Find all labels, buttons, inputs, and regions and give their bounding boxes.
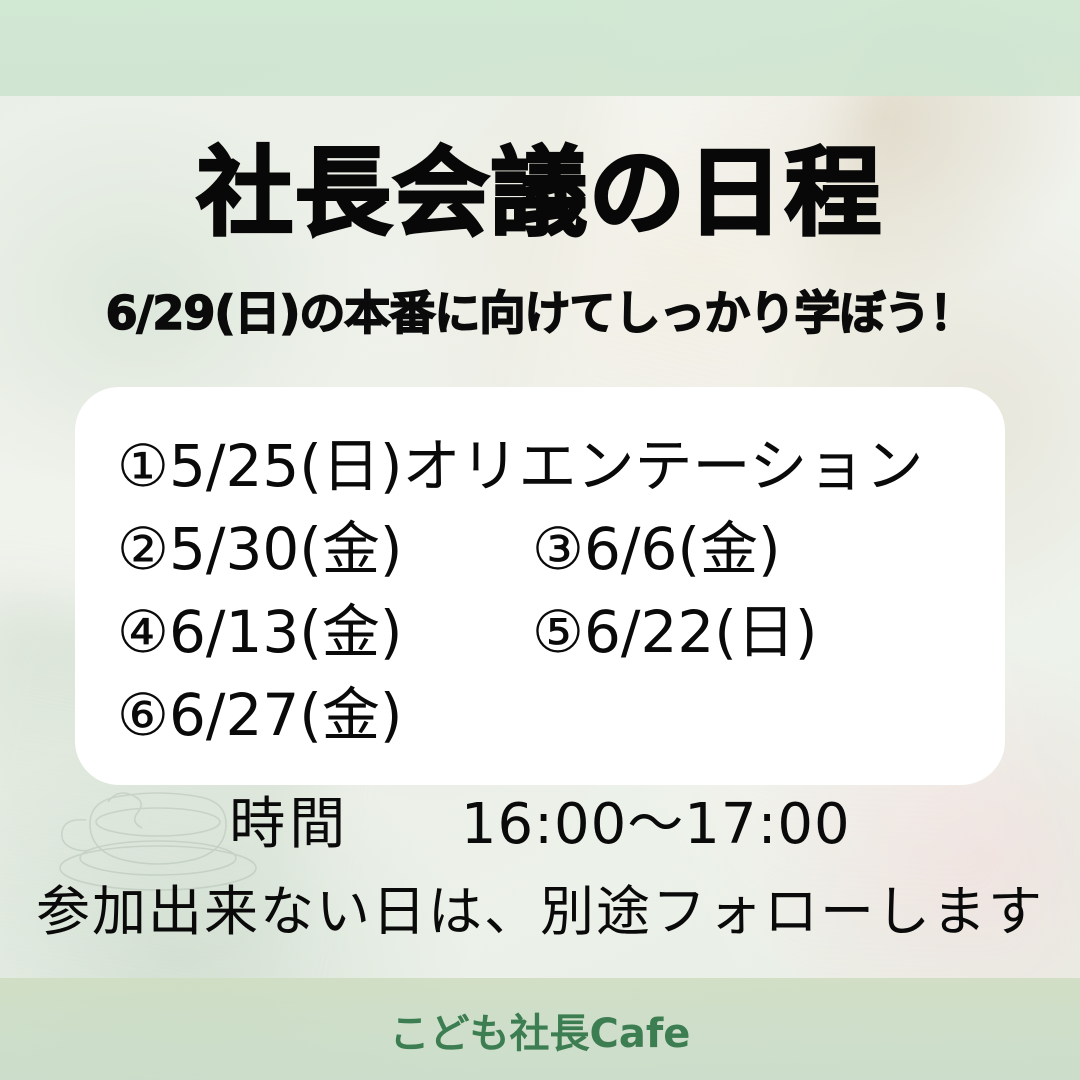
schedule-card: ①5/25(日)オリエンテーション ②5/30(金) ③6/6(金) ④6/13…: [75, 387, 1005, 785]
schedule-item-5: ⑤6/22(日): [532, 591, 818, 674]
schedule-item-6: ⑥6/27(金): [117, 674, 981, 757]
page-subtitle: 6/29(日)の本番に向けてしっかり学ぼう！: [0, 288, 1080, 339]
poster-root: 社長会議の日程 6/29(日)の本番に向けてしっかり学ぼう！ ①5/25(日)オ…: [0, 0, 1080, 1080]
schedule-row: ①5/25(日)オリエンテーション: [117, 425, 981, 508]
page-title: 社長会議の日程: [0, 143, 1080, 244]
schedule-item-2: ②5/30(金): [117, 508, 532, 591]
schedule-item-1: ①5/25(日)オリエンテーション: [117, 425, 981, 508]
top-color-band: [0, 0, 1080, 96]
schedule-item-4: ④6/13(金): [117, 591, 532, 674]
schedule-row: ⑥6/27(金): [117, 674, 981, 757]
schedule-row: ④6/13(金) ⑤6/22(日): [117, 591, 981, 674]
schedule-item-3: ③6/6(金): [532, 508, 781, 591]
schedule-row: ②5/30(金) ③6/6(金): [117, 508, 981, 591]
time-value: 16:00〜17:00: [461, 792, 851, 857]
followup-note: 参加出来ない日は、別途フォローします: [0, 880, 1080, 944]
time-label: 時間: [229, 792, 349, 857]
brand-name: こども社長Cafe: [0, 1008, 1080, 1060]
schedule-list: ①5/25(日)オリエンテーション ②5/30(金) ③6/6(金) ④6/13…: [117, 425, 981, 757]
time-line: 時間 16:00〜17:00: [0, 793, 1080, 857]
